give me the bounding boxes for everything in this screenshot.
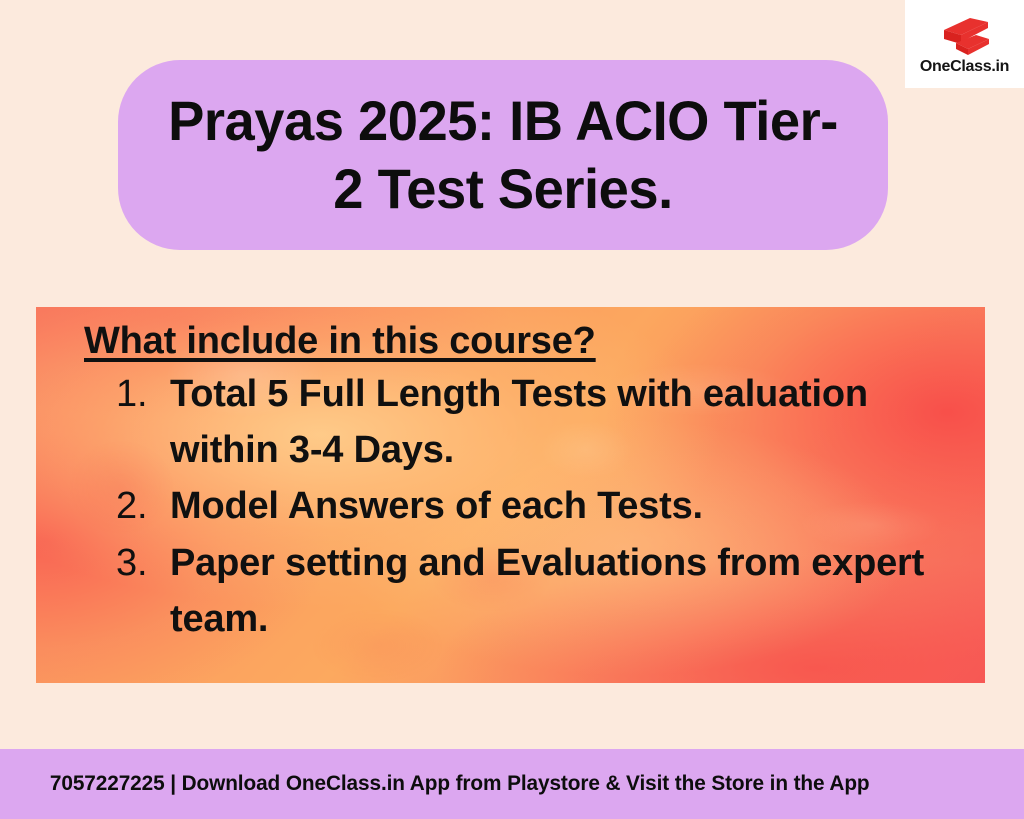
promo-poster: OneClass.in Prayas 2025: IB ACIO Tier-2 …: [0, 0, 1024, 819]
footer-bar: 7057227225 | Download OneClass.in App fr…: [0, 749, 1024, 819]
page-title: Prayas 2025: IB ACIO Tier-2 Test Series.: [163, 87, 844, 224]
footer-contact-text: 7057227225 | Download OneClass.in App fr…: [4, 772, 869, 796]
oneclass-logo-icon: [940, 13, 990, 57]
list-item: Model Answers of each Tests.: [116, 478, 985, 534]
brand-name: OneClass.in: [920, 59, 1009, 75]
panel-heading: What include in this course?: [84, 319, 985, 364]
course-details-panel: What include in this course? Total 5 Ful…: [36, 307, 985, 683]
feature-list: Total 5 Full Length Tests with ealuation…: [84, 366, 985, 647]
panel-content: What include in this course? Total 5 Ful…: [36, 307, 985, 647]
list-item: Total 5 Full Length Tests with ealuation…: [116, 366, 985, 478]
brand-card: OneClass.in: [905, 0, 1024, 88]
title-banner: Prayas 2025: IB ACIO Tier-2 Test Series.: [118, 60, 888, 250]
list-item: Paper setting and Evaluations from exper…: [116, 535, 985, 647]
